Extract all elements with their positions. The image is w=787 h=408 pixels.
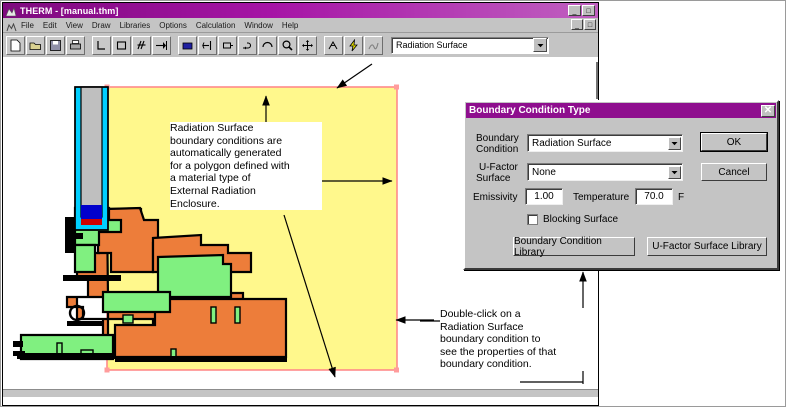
status-bar xyxy=(3,389,598,397)
undo-icon[interactable] xyxy=(258,36,277,55)
menu-item-file[interactable]: File xyxy=(21,21,34,30)
results-icon[interactable] xyxy=(364,36,383,55)
frame-green-center xyxy=(158,255,231,297)
green-notch xyxy=(211,307,216,323)
dialog-title-text: Boundary Condition Type xyxy=(469,105,590,116)
ufactor-surface-value: None xyxy=(528,167,668,178)
ufactor-surface-label-line1: U-Factor xyxy=(479,163,518,174)
save-file-icon[interactable] xyxy=(46,36,65,55)
temperature-value: 70.0 xyxy=(636,191,672,202)
ok-button[interactable]: OK xyxy=(701,133,767,151)
fill-void-icon[interactable] xyxy=(132,36,151,55)
temperature-unit-label: F xyxy=(678,193,684,204)
boundary-condition-label-line1: Boundary xyxy=(476,134,519,145)
main-toolbar: Radiation Surface xyxy=(3,33,598,58)
menu-item-window[interactable]: Window xyxy=(244,21,272,30)
insert-point-icon[interactable] xyxy=(152,36,171,55)
frame-outline-detail xyxy=(69,233,83,239)
menu-item-draw[interactable]: Draw xyxy=(92,21,111,30)
window-title-text: THERM - [manual.thm] xyxy=(20,6,119,16)
pan-icon[interactable] xyxy=(298,36,317,55)
ufactor-surface-library-button[interactable]: U-Factor Surface Library xyxy=(647,237,767,256)
mdi-restore-button[interactable]: _ xyxy=(571,19,583,30)
print-icon[interactable] xyxy=(66,36,85,55)
frame-outline-detail xyxy=(17,353,115,359)
polygon-handle xyxy=(394,85,399,90)
chevron-down-icon[interactable] xyxy=(668,166,681,179)
emissivity-field[interactable]: 1.00 xyxy=(525,188,563,205)
calculate-icon[interactable] xyxy=(344,36,363,55)
flip-icon[interactable] xyxy=(238,36,257,55)
document-icon xyxy=(6,20,17,30)
mesh-icon[interactable] xyxy=(324,36,343,55)
menu-bar: File Edit View Draw Libraries Options Ca… xyxy=(3,18,598,33)
boundary-condition-value: Radiation Surface xyxy=(528,138,668,149)
material-type-combo[interactable]: Radiation Surface xyxy=(391,37,549,54)
maximize-restore-button[interactable]: □ xyxy=(582,5,595,16)
menu-item-options[interactable]: Options xyxy=(159,21,187,30)
cancel-button[interactable]: Cancel xyxy=(701,163,767,181)
emissivity-value: 1.00 xyxy=(526,191,562,202)
polygon-handle xyxy=(105,368,110,373)
boundary-condition-type-dialog: Boundary Condition Type ✕ Boundary Condi… xyxy=(463,100,779,270)
ufactor-surface-combo[interactable]: None xyxy=(527,163,683,181)
boundary-condition-label-line2: Condition xyxy=(476,145,518,156)
temperature-label: Temperature xyxy=(573,193,629,204)
frame-outline-detail xyxy=(67,321,103,326)
blocking-surface-label: Blocking Surface xyxy=(543,214,618,225)
emissivity-label: Emissivity xyxy=(473,193,517,204)
mdi-close-button[interactable]: □ xyxy=(584,19,596,30)
glazing-blue-band xyxy=(81,205,102,219)
window-controls: _ □ xyxy=(568,5,596,16)
green-notch xyxy=(235,307,240,323)
material-color-icon[interactable] xyxy=(178,36,197,55)
therm-app-icon xyxy=(5,5,17,16)
open-file-icon[interactable] xyxy=(26,36,45,55)
green-notch xyxy=(123,315,133,323)
chevron-down-icon[interactable] xyxy=(533,38,547,52)
frame-outline-detail xyxy=(115,356,287,362)
callout-radiation-surface-generated: Radiation Surface boundary conditions ar… xyxy=(170,122,322,210)
dialog-title-bar: Boundary Condition Type ✕ xyxy=(466,103,776,118)
polygon-handle xyxy=(394,368,399,373)
chevron-down-icon[interactable] xyxy=(668,137,681,150)
frame-green-left xyxy=(75,245,95,272)
menu-item-help[interactable]: Help xyxy=(282,21,298,30)
ufactor-surface-label-line2: Surface xyxy=(476,174,510,185)
minimize-button[interactable]: _ xyxy=(568,5,581,16)
new-file-icon[interactable] xyxy=(6,36,25,55)
blocking-surface-checkbox[interactable]: Blocking Surface xyxy=(527,214,618,225)
window-title-bar: THERM - [manual.thm] _ □ xyxy=(3,3,598,18)
menu-item-view[interactable]: View xyxy=(66,21,83,30)
glazing-red-band xyxy=(81,219,102,225)
frame-outline-detail xyxy=(13,341,23,347)
boundary-condition-combo[interactable]: Radiation Surface xyxy=(527,134,683,152)
measure-icon[interactable] xyxy=(218,36,237,55)
frame-outline-detail xyxy=(13,351,25,356)
material-type-value: Radiation Surface xyxy=(392,40,533,50)
temperature-field[interactable]: 70.0 xyxy=(635,188,673,205)
menu-item-calculation[interactable]: Calculation xyxy=(196,21,236,30)
dialog-body: Boundary Condition Radiation Surface U-F… xyxy=(465,119,777,271)
close-icon[interactable]: ✕ xyxy=(761,105,775,117)
menu-item-libraries[interactable]: Libraries xyxy=(120,21,151,30)
zoom-icon[interactable] xyxy=(278,36,297,55)
draw-rectangle-icon[interactable] xyxy=(112,36,131,55)
callout-double-click-instruction: Double-click on a Radiation Surface boun… xyxy=(440,308,590,371)
boundary-condition-library-button[interactable]: Boundary Condition Library xyxy=(513,237,635,256)
mdi-window-controls: _ □ xyxy=(571,19,596,30)
frame-outline-detail xyxy=(63,275,121,281)
glazing-gray-core xyxy=(81,87,102,217)
frame-green-band xyxy=(103,292,170,312)
checkbox-box[interactable] xyxy=(527,214,538,225)
boundary-condition-icon[interactable] xyxy=(198,36,217,55)
draw-polygon-icon[interactable] xyxy=(92,36,111,55)
menu-item-edit[interactable]: Edit xyxy=(43,21,57,30)
